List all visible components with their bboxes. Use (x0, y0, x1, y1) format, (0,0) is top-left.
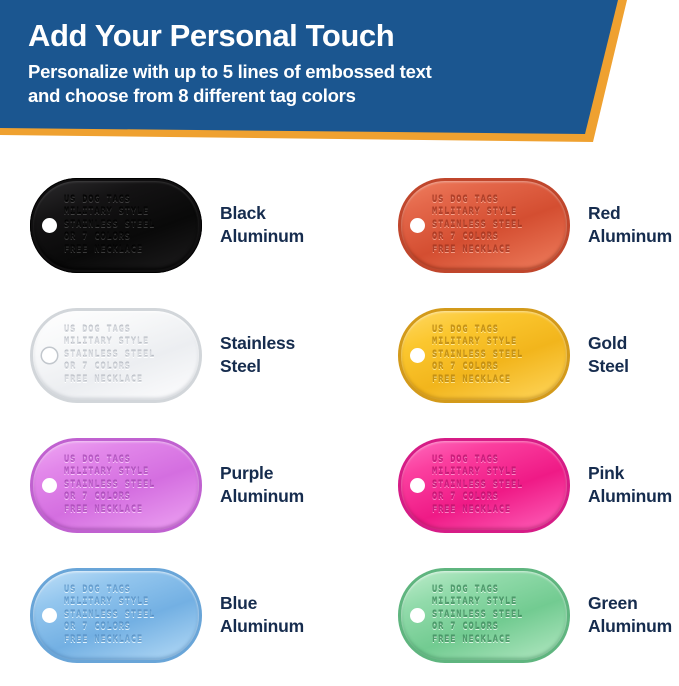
emboss-line-3: STAINLESS STEEL (64, 219, 196, 231)
dog-tag-blue[interactable]: US DOG TAGS MILITARY STYLE STAINLESS STE… (30, 568, 202, 663)
emboss-line-1: US DOG TAGS (432, 324, 564, 336)
emboss-line-1: US DOG TAGS (64, 324, 196, 336)
emboss-line-3: STAINLESS STEEL (432, 479, 564, 491)
tag-hole-icon (410, 608, 425, 623)
tag-hole-icon (42, 218, 57, 233)
tag-hole-icon (410, 478, 425, 493)
tag-label-line-1: Red (588, 202, 672, 225)
tag-label: Purple Aluminum (220, 462, 304, 508)
emboss-line-4: OR 7 COLORS (432, 231, 564, 243)
emboss-line-2: MILITARY STYLE (432, 466, 564, 478)
emboss-line-2: MILITARY STYLE (432, 596, 564, 608)
emboss-line-3: STAINLESS STEEL (64, 349, 196, 361)
tag-label-line-1: Purple (220, 462, 304, 485)
tag-label: Red Aluminum (588, 202, 672, 248)
tag-embossed-text: US DOG TAGS MILITARY STYLE STAINLESS STE… (64, 194, 196, 256)
tag-embossed-text: US DOG TAGS MILITARY STYLE STAINLESS STE… (64, 584, 196, 646)
tag-label-line-2: Aluminum (220, 485, 304, 508)
emboss-line-1: US DOG TAGS (432, 454, 564, 466)
emboss-line-5: FREE NECKLACE (432, 244, 564, 256)
emboss-line-2: MILITARY STYLE (432, 206, 564, 218)
tag-label: Green Aluminum (588, 592, 672, 638)
emboss-line-5: FREE NECKLACE (64, 504, 196, 516)
emboss-line-5: FREE NECKLACE (432, 504, 564, 516)
emboss-line-2: MILITARY STYLE (64, 206, 196, 218)
tag-embossed-text: US DOG TAGS MILITARY STYLE STAINLESS STE… (64, 454, 196, 516)
tag-embossed-text: US DOG TAGS MILITARY STYLE STAINLESS STE… (432, 324, 564, 386)
emboss-line-5: FREE NECKLACE (64, 634, 196, 646)
tag-label-line-1: Blue (220, 592, 304, 615)
tag-option-purple[interactable]: US DOG TAGS MILITARY STYLE STAINLESS STE… (30, 420, 360, 550)
tag-embossed-text: US DOG TAGS MILITARY STYLE STAINLESS STE… (432, 194, 564, 256)
tag-embossed-text: US DOG TAGS MILITARY STYLE STAINLESS STE… (432, 584, 564, 646)
emboss-line-4: OR 7 COLORS (64, 621, 196, 633)
dog-tag-pink[interactable]: US DOG TAGS MILITARY STYLE STAINLESS STE… (398, 438, 570, 533)
tag-option-green[interactable]: US DOG TAGS MILITARY STYLE STAINLESS STE… (398, 550, 679, 680)
tag-label: Blue Aluminum (220, 592, 304, 638)
dog-tag-green[interactable]: US DOG TAGS MILITARY STYLE STAINLESS STE… (398, 568, 570, 663)
dog-tag-red[interactable]: US DOG TAGS MILITARY STYLE STAINLESS STE… (398, 178, 570, 273)
tag-label-line-2: Aluminum (588, 225, 672, 248)
emboss-line-1: US DOG TAGS (432, 584, 564, 596)
tag-label-line-1: Pink (588, 462, 672, 485)
tag-label-line-1: Stainless (220, 332, 295, 355)
emboss-line-4: OR 7 COLORS (432, 491, 564, 503)
emboss-line-2: MILITARY STYLE (64, 336, 196, 348)
banner-text-block: Add Your Personal Touch Personalize with… (28, 18, 588, 107)
emboss-line-2: MILITARY STYLE (432, 336, 564, 348)
emboss-line-4: OR 7 COLORS (64, 491, 196, 503)
emboss-line-2: MILITARY STYLE (64, 466, 196, 478)
tag-hole-icon (410, 348, 425, 363)
emboss-line-3: STAINLESS STEEL (432, 349, 564, 361)
tag-hole-icon (42, 348, 57, 363)
tag-label-line-2: Steel (220, 355, 295, 378)
subtitle-line-1: Personalize with up to 5 lines of emboss… (28, 60, 588, 84)
tag-label-line-2: Aluminum (588, 615, 672, 638)
emboss-line-1: US DOG TAGS (64, 584, 196, 596)
emboss-line-3: STAINLESS STEEL (432, 609, 564, 621)
tag-embossed-text: US DOG TAGS MILITARY STYLE STAINLESS STE… (432, 454, 564, 516)
dog-tag-purple[interactable]: US DOG TAGS MILITARY STYLE STAINLESS STE… (30, 438, 202, 533)
tag-label-line-1: Black (220, 202, 304, 225)
emboss-line-1: US DOG TAGS (64, 454, 196, 466)
subtitle-line-2: and choose from 8 different tag colors (28, 84, 588, 108)
dog-tag-stainless-steel[interactable]: US DOG TAGS MILITARY STYLE STAINLESS STE… (30, 308, 202, 403)
tag-option-gold[interactable]: US DOG TAGS MILITARY STYLE STAINLESS STE… (398, 290, 679, 420)
emboss-line-1: US DOG TAGS (64, 194, 196, 206)
tag-option-red[interactable]: US DOG TAGS MILITARY STYLE STAINLESS STE… (398, 160, 679, 290)
emboss-line-3: STAINLESS STEEL (64, 609, 196, 621)
emboss-line-4: OR 7 COLORS (64, 361, 196, 373)
tag-label: Black Aluminum (220, 202, 304, 248)
emboss-line-5: FREE NECKLACE (432, 634, 564, 646)
emboss-line-4: OR 7 COLORS (432, 621, 564, 633)
emboss-line-4: OR 7 COLORS (64, 231, 196, 243)
emboss-line-2: MILITARY STYLE (64, 596, 196, 608)
tag-label-line-2: Aluminum (220, 225, 304, 248)
tag-option-blue[interactable]: US DOG TAGS MILITARY STYLE STAINLESS STE… (30, 550, 360, 680)
tag-option-black[interactable]: US DOG TAGS MILITARY STYLE STAINLESS STE… (30, 160, 360, 290)
tag-hole-icon (42, 478, 57, 493)
page-title: Add Your Personal Touch (28, 18, 588, 54)
dog-tag-gold[interactable]: US DOG TAGS MILITARY STYLE STAINLESS STE… (398, 308, 570, 403)
tag-option-pink[interactable]: US DOG TAGS MILITARY STYLE STAINLESS STE… (398, 420, 679, 550)
dog-tag-black[interactable]: US DOG TAGS MILITARY STYLE STAINLESS STE… (30, 178, 202, 273)
tag-embossed-text: US DOG TAGS MILITARY STYLE STAINLESS STE… (64, 324, 196, 386)
header-banner: Add Your Personal Touch Personalize with… (0, 0, 679, 150)
tag-label: Pink Aluminum (588, 462, 672, 508)
tag-label-line-1: Green (588, 592, 672, 615)
tag-option-stainless-steel[interactable]: US DOG TAGS MILITARY STYLE STAINLESS STE… (30, 290, 360, 420)
tag-label: Gold Steel (588, 332, 629, 378)
emboss-line-5: FREE NECKLACE (432, 374, 564, 386)
tag-label: Stainless Steel (220, 332, 295, 378)
emboss-line-4: OR 7 COLORS (432, 361, 564, 373)
tag-label-line-2: Steel (588, 355, 629, 378)
tag-color-grid: US DOG TAGS MILITARY STYLE STAINLESS STE… (0, 160, 679, 686)
emboss-line-3: STAINLESS STEEL (432, 219, 564, 231)
emboss-line-5: FREE NECKLACE (64, 374, 196, 386)
page-subtitle: Personalize with up to 5 lines of emboss… (28, 60, 588, 107)
emboss-line-1: US DOG TAGS (432, 194, 564, 206)
tag-hole-icon (42, 608, 57, 623)
tag-hole-icon (410, 218, 425, 233)
tag-label-line-2: Aluminum (588, 485, 672, 508)
emboss-line-3: STAINLESS STEEL (64, 479, 196, 491)
emboss-line-5: FREE NECKLACE (64, 244, 196, 256)
tag-label-line-1: Gold (588, 332, 629, 355)
tag-label-line-2: Aluminum (220, 615, 304, 638)
